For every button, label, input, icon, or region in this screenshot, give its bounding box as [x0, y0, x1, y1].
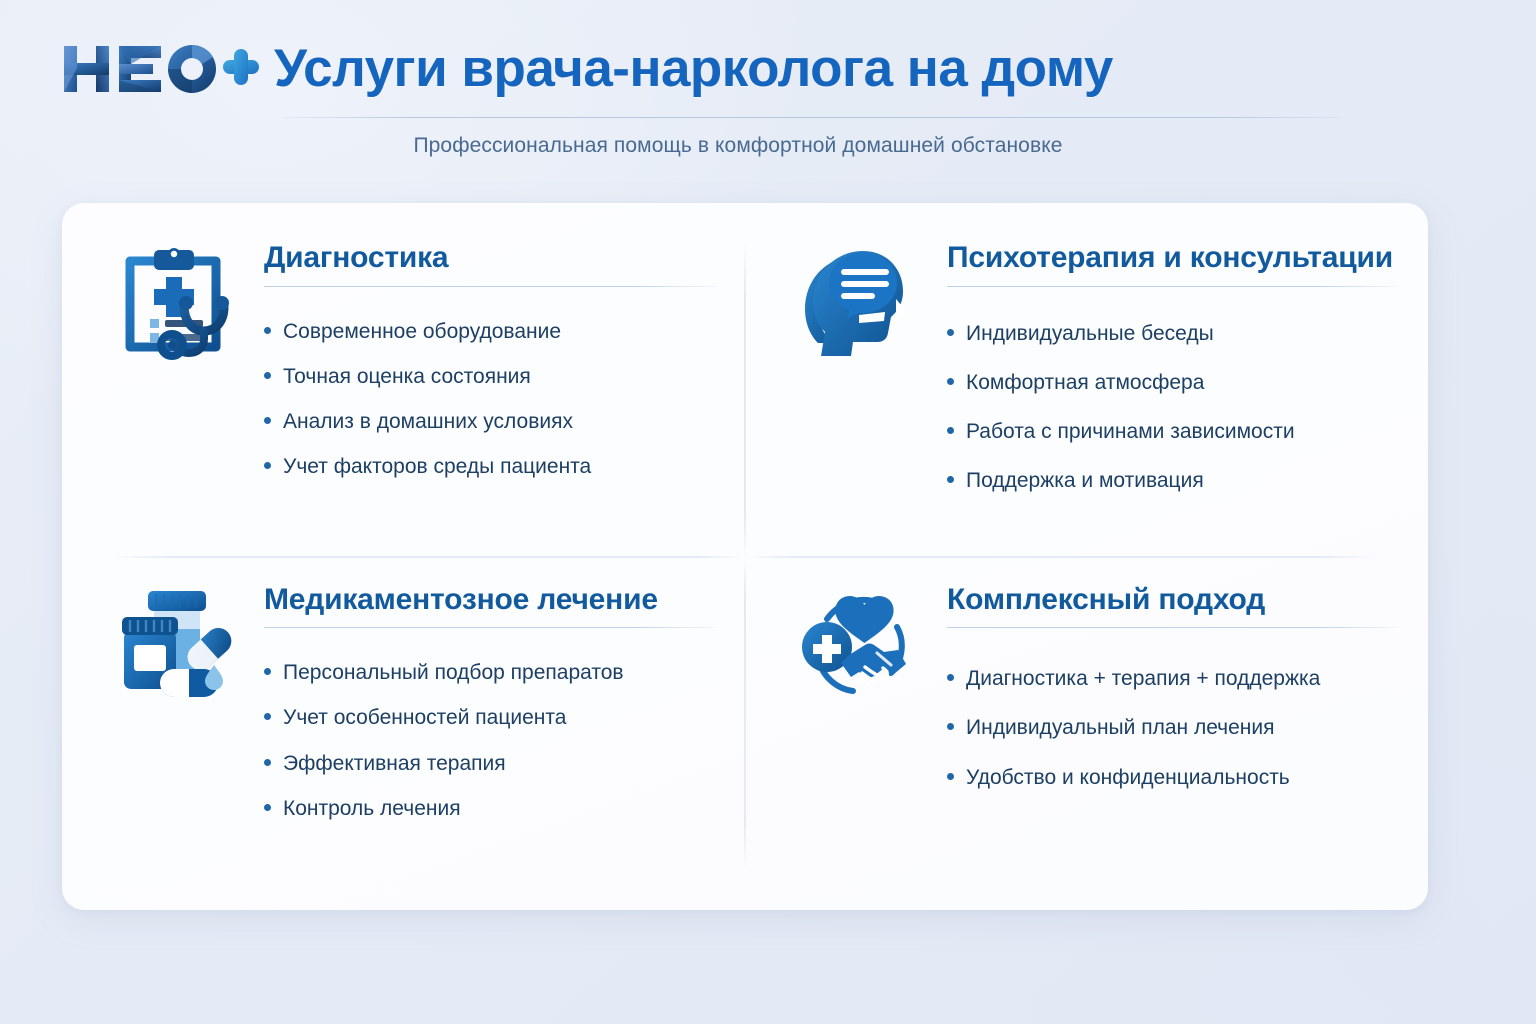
- card-title-divider: [947, 286, 1398, 287]
- bullet-text: Учет факторов среды пациента: [283, 453, 591, 480]
- service-card-diagnostics[interactable]: Диагностика Современное оборудование Точ…: [62, 203, 745, 557]
- card-bullet-list: Диагностика + терапия + поддержка Индиви…: [947, 654, 1398, 802]
- bullet-dot: [264, 668, 271, 675]
- bullet-dot: [264, 713, 271, 720]
- bullet-dot: [947, 773, 954, 780]
- list-item: Эффективная терапия: [264, 741, 715, 786]
- card-title-divider: [264, 627, 715, 628]
- bullet-text: Анализ в домашних условиях: [283, 408, 573, 435]
- list-item: Анализ в домашних условиях: [264, 399, 715, 444]
- card-bullet-list: Персональный подбор препаратов Учет особ…: [264, 650, 715, 831]
- head-speech-bubble-icon: [791, 235, 921, 365]
- list-item: Точная оценка состояния: [264, 354, 715, 399]
- page-header: Услуги врача-нарколога на дому Профессио…: [0, 0, 1536, 158]
- card-bullet-list: Современное оборудование Точная оценка с…: [264, 309, 715, 490]
- bullet-dot: [947, 329, 954, 336]
- bullet-dot: [264, 327, 271, 334]
- bullet-text: Персональный подбор препаратов: [283, 659, 624, 686]
- bullet-text: Современное оборудование: [283, 318, 561, 345]
- page-subtitle: Профессиональная помощь в комфортной дом…: [60, 134, 1476, 158]
- list-item: Индивидуальный план лечения: [947, 703, 1398, 752]
- logo-letter-e: [119, 46, 161, 92]
- list-item: Поддержка и мотивация: [947, 456, 1398, 505]
- list-item: Современное оборудование: [264, 309, 715, 354]
- service-card-medication[interactable]: Медикаментозное лечение Персональный под…: [62, 557, 745, 911]
- bullet-dot: [947, 674, 954, 681]
- list-item: Диагностика + терапия + поддержка: [947, 654, 1398, 703]
- logo-letter-o: [168, 45, 216, 93]
- services-panel: Диагностика Современное оборудование Точ…: [62, 203, 1428, 910]
- card-title: Комплексный подход: [947, 583, 1398, 618]
- card-title-divider: [947, 627, 1398, 628]
- service-card-complex-approach[interactable]: Комплексный подход Диагностика + терапия…: [745, 557, 1428, 911]
- bullet-dot: [264, 417, 271, 424]
- bullet-text: Эффективная терапия: [283, 750, 506, 777]
- page-title: Услуги врача-нарколога на дому: [274, 41, 1113, 97]
- bullet-dot: [947, 427, 954, 434]
- bullet-dot: [264, 759, 271, 766]
- card-title-divider: [264, 286, 715, 287]
- list-item: Персональный подбор препаратов: [264, 650, 715, 695]
- bullet-text: Поддержка и мотивация: [966, 467, 1204, 494]
- bullet-dot: [264, 804, 271, 811]
- card-body: Диагностика Современное оборудование Точ…: [264, 235, 715, 490]
- card-title: Психотерапия и консультации: [947, 241, 1398, 276]
- logo-letter-n: [64, 46, 109, 92]
- service-card-psychotherapy[interactable]: Психотерапия и консультации Индивидуальн…: [745, 203, 1428, 557]
- bullet-text: Контроль лечения: [283, 795, 461, 822]
- card-body: Психотерапия и консультации Индивидуальн…: [947, 235, 1398, 506]
- card-bullet-list: Индивидуальные беседы Комфортная атмосфе…: [947, 309, 1398, 506]
- list-item: Контроль лечения: [264, 786, 715, 831]
- list-item: Учет факторов среды пациента: [264, 444, 715, 489]
- card-title: Диагностика: [264, 241, 715, 276]
- bullet-text: Учет особенностей пациента: [283, 704, 566, 731]
- list-item: Учет особенностей пациента: [264, 695, 715, 740]
- bullet-dot: [264, 462, 271, 469]
- neo-plus-logo: [60, 38, 260, 100]
- bullet-text: Работа с причинами зависимости: [966, 418, 1295, 445]
- bullet-text: Индивидуальные беседы: [966, 320, 1214, 347]
- header-divider: [282, 117, 1342, 118]
- bullet-dot: [947, 723, 954, 730]
- bullet-dot: [264, 372, 271, 379]
- heart-handshake-cross-icon: [791, 577, 921, 707]
- list-item: Комфортная атмосфера: [947, 358, 1398, 407]
- header-row: Услуги врача-нарколога на дому: [60, 38, 1476, 100]
- card-body: Комплексный подход Диагностика + терапия…: [947, 577, 1398, 802]
- card-body: Медикаментозное лечение Персональный под…: [264, 577, 715, 832]
- bullet-text: Диагностика + терапия + поддержка: [966, 665, 1320, 692]
- bullet-text: Комфортная атмосфера: [966, 369, 1204, 396]
- list-item: Работа с причинами зависимости: [947, 407, 1398, 456]
- clipboard-stethoscope-icon: [108, 235, 238, 365]
- list-item: Удобство и конфиденциальность: [947, 753, 1398, 802]
- bullet-text: Удобство и конфиденциальность: [966, 764, 1290, 791]
- bullet-text: Индивидуальный план лечения: [966, 714, 1275, 741]
- bullet-dot: [947, 378, 954, 385]
- logo-plus-icon: [223, 49, 259, 85]
- bullet-dot: [947, 476, 954, 483]
- pill-bottles-capsule-icon: [108, 577, 238, 707]
- bullet-text: Точная оценка состояния: [283, 363, 531, 390]
- list-item: Индивидуальные беседы: [947, 309, 1398, 358]
- card-title: Медикаментозное лечение: [264, 583, 715, 618]
